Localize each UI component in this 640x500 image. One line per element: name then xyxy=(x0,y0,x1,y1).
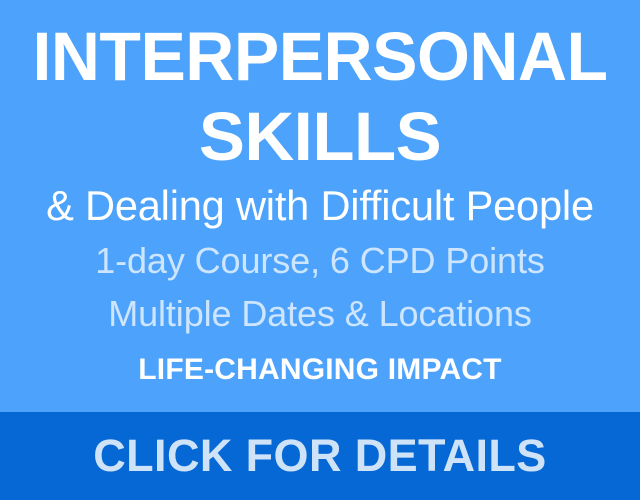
banner-content-area: INTERPERSONAL SKILLS & Dealing with Diff… xyxy=(0,0,640,412)
banner-tagline: LIFE-CHANGING IMPACT xyxy=(0,352,640,388)
advertisement-banner[interactable]: INTERPERSONAL SKILLS & Dealing with Diff… xyxy=(0,0,640,500)
cta-button[interactable]: CLICK FOR DETAILS xyxy=(0,412,640,500)
cta-button-label: CLICK FOR DETAILS xyxy=(93,431,546,481)
headline-primary: INTERPERSONAL xyxy=(5,21,635,93)
detail-course-duration: 1-day Course, 6 CPD Points xyxy=(0,240,640,282)
banner-subheading: & Dealing with Difficult People xyxy=(3,182,637,230)
detail-dates-locations: Multiple Dates & Locations xyxy=(0,293,640,335)
headline-secondary: SKILLS xyxy=(0,101,640,173)
